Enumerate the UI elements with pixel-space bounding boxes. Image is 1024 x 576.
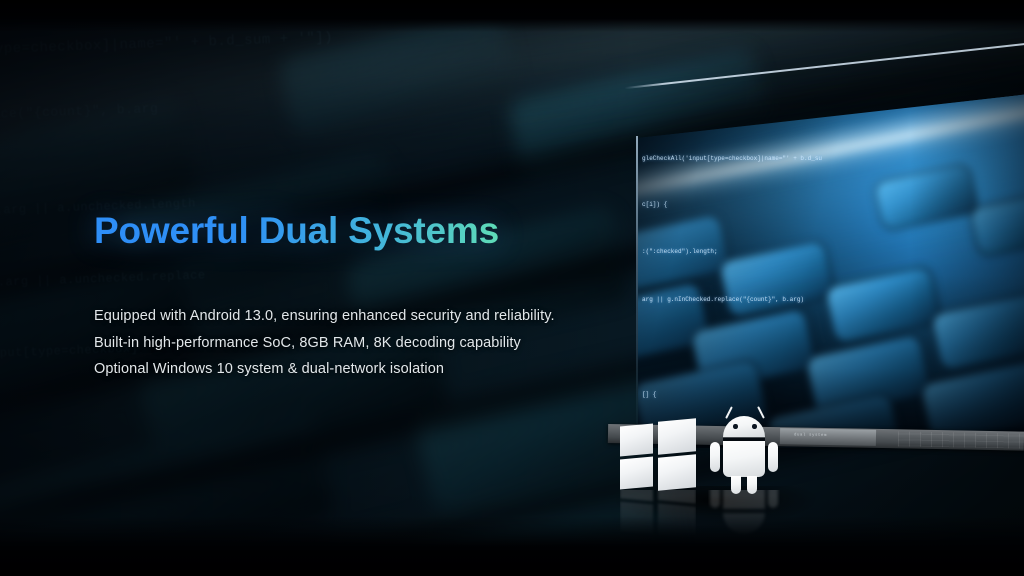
panel-code-line-5: [] { — [642, 391, 822, 399]
feature-item-2: Built-in high-performance SoC, 8GB RAM, … — [94, 336, 614, 351]
panel-code-line-4: arg || g.nInChecked.replace("{count}", b… — [642, 296, 822, 304]
feature-item-1: Equipped with Android 13.0, ensuring enh… — [94, 309, 614, 324]
panel-code-overlay: gleCheckAll('input[type=checkbox]|name="… — [642, 140, 822, 440]
windows-pane-bottom-left — [620, 456, 653, 489]
feature-list: Equipped with Android 13.0, ensuring enh… — [94, 309, 614, 377]
hinge-grid-texture — [898, 431, 1024, 448]
copy-block: Powerful Dual Systems Equipped with Andr… — [94, 210, 614, 389]
panel-code-line-2: c[i]) { — [642, 201, 822, 209]
hinge-label: dual system — [794, 433, 827, 438]
android-arm-left — [710, 442, 720, 472]
letterbox-bottom — [0, 516, 1024, 576]
letterbox-top — [0, 0, 1024, 32]
android-eye-right — [752, 424, 757, 429]
android-arm-right — [768, 442, 778, 472]
windows-pane-top-left — [620, 423, 653, 456]
panel-code-line-1: gleCheckAll('input[type=checkbox]|name="… — [642, 155, 822, 163]
android-head — [723, 416, 765, 437]
android-logo — [708, 404, 780, 490]
feature-item-3: Optional Windows 10 system & dual-networ… — [94, 362, 614, 377]
android-antenna-right — [757, 406, 764, 418]
windows-pane-top-right — [658, 418, 696, 454]
page-title: Powerful Dual Systems — [94, 210, 614, 251]
windows-pane-bottom-right — [658, 454, 696, 490]
android-eye-left — [733, 424, 738, 429]
android-body — [723, 441, 765, 477]
windows-logo — [620, 420, 696, 490]
panel-code-line-3: :(":checked").length; — [642, 248, 822, 256]
android-antenna-left — [725, 406, 732, 418]
panel-left-edge-highlight — [636, 136, 638, 436]
slide-canvas: type=checkbox]|name="' + b.d_sum + '"]) … — [0, 0, 1024, 576]
